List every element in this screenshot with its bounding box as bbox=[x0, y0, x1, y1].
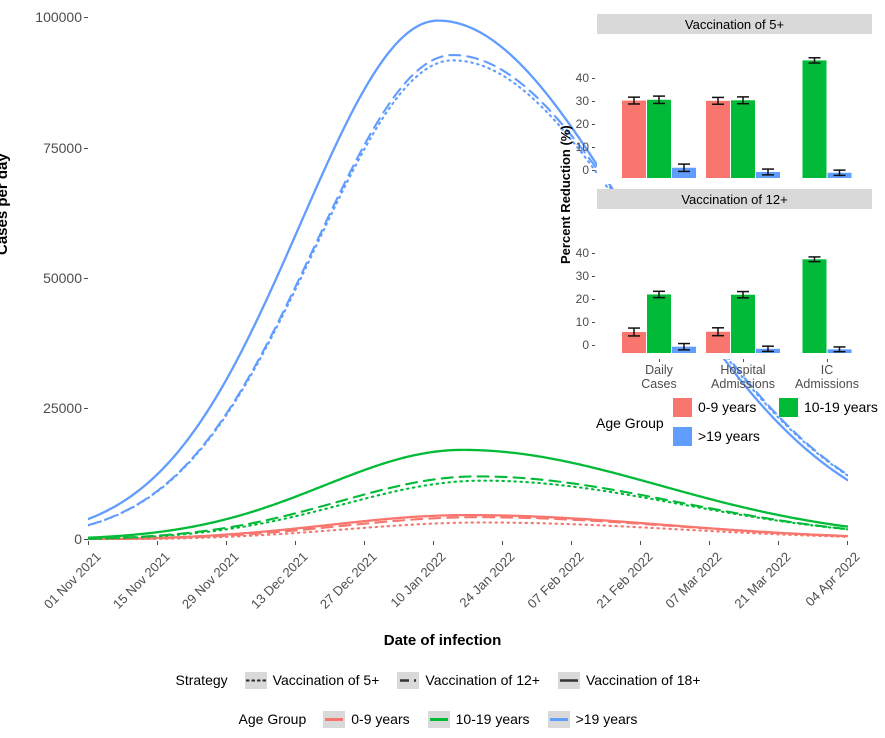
inset-errorbar-bottom-2-1 bbox=[809, 257, 821, 262]
inset-x-tick-line2: Admissions bbox=[698, 377, 788, 391]
inset-x-tick-line1: IC bbox=[782, 363, 872, 377]
inset-x-tick-mark bbox=[743, 359, 744, 362]
strategy-legend-item-12plus[interactable]: Vaccination of 12+ bbox=[397, 672, 540, 689]
inset-y-tick-mark bbox=[592, 147, 595, 148]
strategy-legend-title: Strategy bbox=[176, 672, 228, 688]
inset-y-tick-mark bbox=[592, 276, 595, 277]
x-tick-mark bbox=[847, 541, 848, 545]
main-x-axis-label: Date of infection bbox=[0, 632, 885, 649]
age-group-legend-item-19plus[interactable]: >19 years bbox=[548, 711, 638, 728]
inset-panel-top-svg bbox=[597, 34, 872, 184]
x-tick-mark bbox=[364, 541, 365, 545]
inset-x-tick-label: IC Admissions bbox=[782, 363, 872, 391]
inset-y-tick-label: 20 bbox=[556, 117, 589, 131]
strategy-legend: Strategy Vaccination of 5+ Vaccination o… bbox=[0, 668, 885, 692]
inset-y-tick-mark bbox=[592, 170, 595, 171]
dotted-line-icon bbox=[245, 672, 267, 689]
inset-legend-label-10-19: 10-19 years bbox=[804, 399, 878, 415]
age-group-legend-label: 0-9 years bbox=[351, 711, 409, 727]
age-group-legend: Age Group 0-9 years 10-19 years >19 year… bbox=[0, 707, 885, 731]
inset-x-tick-mark bbox=[827, 359, 828, 362]
x-tick-mark bbox=[640, 541, 641, 545]
inset-x-tick-mark bbox=[659, 359, 660, 362]
inset-y-tick-mark bbox=[592, 101, 595, 102]
age-group-legend-label: 10-19 years bbox=[456, 711, 530, 727]
x-tick-mark bbox=[295, 541, 296, 545]
inset-legend-label-0-9: 0-9 years bbox=[698, 399, 756, 415]
strategy-legend-item-18plus[interactable]: Vaccination of 18+ bbox=[558, 672, 701, 689]
inset-bar-bottom-hospital-admissions-10-19-years bbox=[731, 295, 755, 353]
age-group-legend-item-10-19[interactable]: 10-19 years bbox=[428, 711, 530, 728]
inset-legend-title: Age Group bbox=[596, 415, 664, 431]
inset-strip-bottom: Vaccination of 12+ bbox=[597, 189, 872, 209]
x-tick-mark bbox=[571, 541, 572, 545]
dashed-line-icon bbox=[397, 672, 419, 689]
x-tick-mark bbox=[226, 541, 227, 545]
line-swatch-10-19-icon bbox=[428, 711, 450, 728]
inset-bar-top-hospital-admissions-10-19-years bbox=[731, 100, 755, 178]
line-swatch-0-9-icon bbox=[323, 711, 345, 728]
age-group-legend-item-0-9[interactable]: 0-9 years bbox=[323, 711, 409, 728]
inset-panel-bottom-svg bbox=[597, 209, 872, 359]
inset-strip-bottom-label: Vaccination of 12+ bbox=[681, 192, 787, 207]
x-tick-label: 04 Apr 2022 bbox=[781, 549, 862, 630]
strategy-legend-label: Vaccination of 5+ bbox=[273, 672, 380, 688]
inset-y-tick-mark bbox=[592, 124, 595, 125]
inset-panel-bottom bbox=[597, 209, 872, 359]
inset-y-tick-label: 30 bbox=[556, 269, 589, 283]
strategy-legend-label: Vaccination of 18+ bbox=[586, 672, 701, 688]
inset-y-tick-mark bbox=[592, 322, 595, 323]
inset-x-tick-line2: Cases bbox=[614, 377, 704, 391]
inset-legend: Age Group 0-9 years 10-19 years >19 year… bbox=[596, 396, 882, 454]
inset-bar-bottom-daily-cases-10-19-years bbox=[647, 294, 671, 353]
inset-y-tick-mark bbox=[592, 253, 595, 254]
inset-chart: Percent Reduction (%) Vaccination of 5+ … bbox=[556, 14, 872, 374]
line-swatch-19plus-icon bbox=[548, 711, 570, 728]
strategy-legend-label: Vaccination of 12+ bbox=[425, 672, 540, 688]
inset-y-tick-label: 30 bbox=[556, 94, 589, 108]
inset-legend-key-10-19[interactable] bbox=[779, 398, 798, 417]
inset-y-tick-mark bbox=[592, 78, 595, 79]
inset-x-tick-line2: Admissions bbox=[782, 377, 872, 391]
inset-y-tick-mark bbox=[592, 299, 595, 300]
x-tick-mark bbox=[433, 541, 434, 545]
inset-strip-top-label: Vaccination of 5+ bbox=[685, 17, 784, 32]
strategy-legend-item-5plus[interactable]: Vaccination of 5+ bbox=[245, 672, 380, 689]
inset-panel-top bbox=[597, 34, 872, 184]
inset-y-tick-label: 10 bbox=[556, 315, 589, 329]
solid-line-icon bbox=[558, 672, 580, 689]
inset-x-tick-line1: Daily bbox=[614, 363, 704, 377]
inset-legend-key-0-9[interactable] bbox=[673, 398, 692, 417]
x-tick-mark bbox=[157, 541, 158, 545]
inset-y-tick-label: 40 bbox=[556, 246, 589, 260]
age-group-legend-title: Age Group bbox=[239, 711, 307, 727]
age-group-legend-label: >19 years bbox=[576, 711, 638, 727]
inset-bar-top-daily-cases-0-9-years bbox=[622, 101, 646, 178]
inset-y-tick-label: 20 bbox=[556, 292, 589, 306]
inset-y-tick-label: 0 bbox=[556, 338, 589, 352]
x-tick-mark bbox=[709, 541, 710, 545]
inset-legend-key-19plus[interactable] bbox=[673, 427, 692, 446]
inset-bar-bottom-ic-admissions-10-19-years bbox=[803, 259, 827, 353]
inset-y-tick-label: 0 bbox=[556, 163, 589, 177]
x-tick-mark bbox=[88, 541, 89, 545]
inset-bar-top-ic-admissions-10-19-years bbox=[803, 60, 827, 178]
inset-y-tick-mark bbox=[592, 345, 595, 346]
inset-x-tick-label: Daily Cases bbox=[614, 363, 704, 391]
inset-bar-top-daily-cases-10-19-years bbox=[647, 100, 671, 178]
inset-y-tick-label: 10 bbox=[556, 140, 589, 154]
inset-x-tick-label: Hospital Admissions bbox=[698, 363, 788, 391]
inset-strip-top: Vaccination of 5+ bbox=[597, 14, 872, 34]
inset-legend-label-19plus: >19 years bbox=[698, 428, 760, 444]
inset-y-tick-label: 40 bbox=[556, 71, 589, 85]
inset-x-tick-line1: Hospital bbox=[698, 363, 788, 377]
inset-bar-top-hospital-admissions-0-9-years bbox=[706, 101, 730, 178]
x-tick-mark bbox=[778, 541, 779, 545]
x-tick-mark bbox=[502, 541, 503, 545]
